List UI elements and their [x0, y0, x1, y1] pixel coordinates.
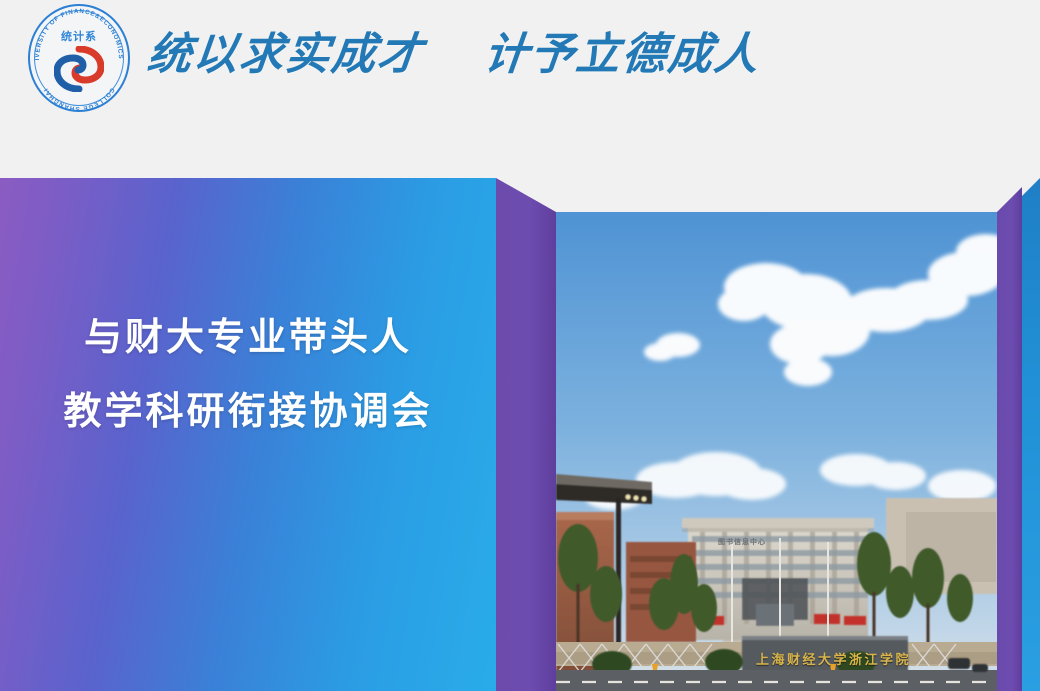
seal-emblem-icon [54, 46, 104, 92]
motto-phrase-1: 统以求实成才 [145, 29, 426, 80]
motto-phrase-2: 计予立德成人 [482, 29, 763, 80]
decorative-purple-slab-right [997, 178, 1022, 691]
seal-chinese-characters: 统计系 [28, 28, 130, 44]
title-panel: 与财大专业带头人 教学科研衔接协调会 ——统计系 [0, 178, 496, 691]
building-top-sign-text: 图书信息中心 [718, 537, 766, 547]
gate-sign-text: 上海财经大学浙江学院 [756, 649, 911, 668]
campus-photo: 图书信息中心 上海财经大学浙江学院 [556, 212, 997, 691]
title-line-1: 与财大专业带头人 [0, 300, 496, 374]
presentation-slide: UNIVERSITY OF FINANCE&ECONOMICS ZJ COLLE… [0, 0, 1040, 691]
slide-title: 与财大专业带头人 教学科研衔接协调会 [0, 300, 496, 448]
university-seal-logo: UNIVERSITY OF FINANCE&ECONOMICS ZJ COLLE… [28, 4, 130, 112]
decorative-blue-edge-strip [1022, 178, 1040, 691]
campus-photo-artwork [556, 212, 997, 691]
decorative-purple-slab-middle [496, 178, 556, 691]
title-line-2: 教学科研衔接协调会 [0, 374, 496, 448]
university-motto: 统以求实成才 计予立德成人 [145, 18, 764, 82]
slide-header-band: UNIVERSITY OF FINANCE&ECONOMICS ZJ COLLE… [0, 0, 1040, 178]
